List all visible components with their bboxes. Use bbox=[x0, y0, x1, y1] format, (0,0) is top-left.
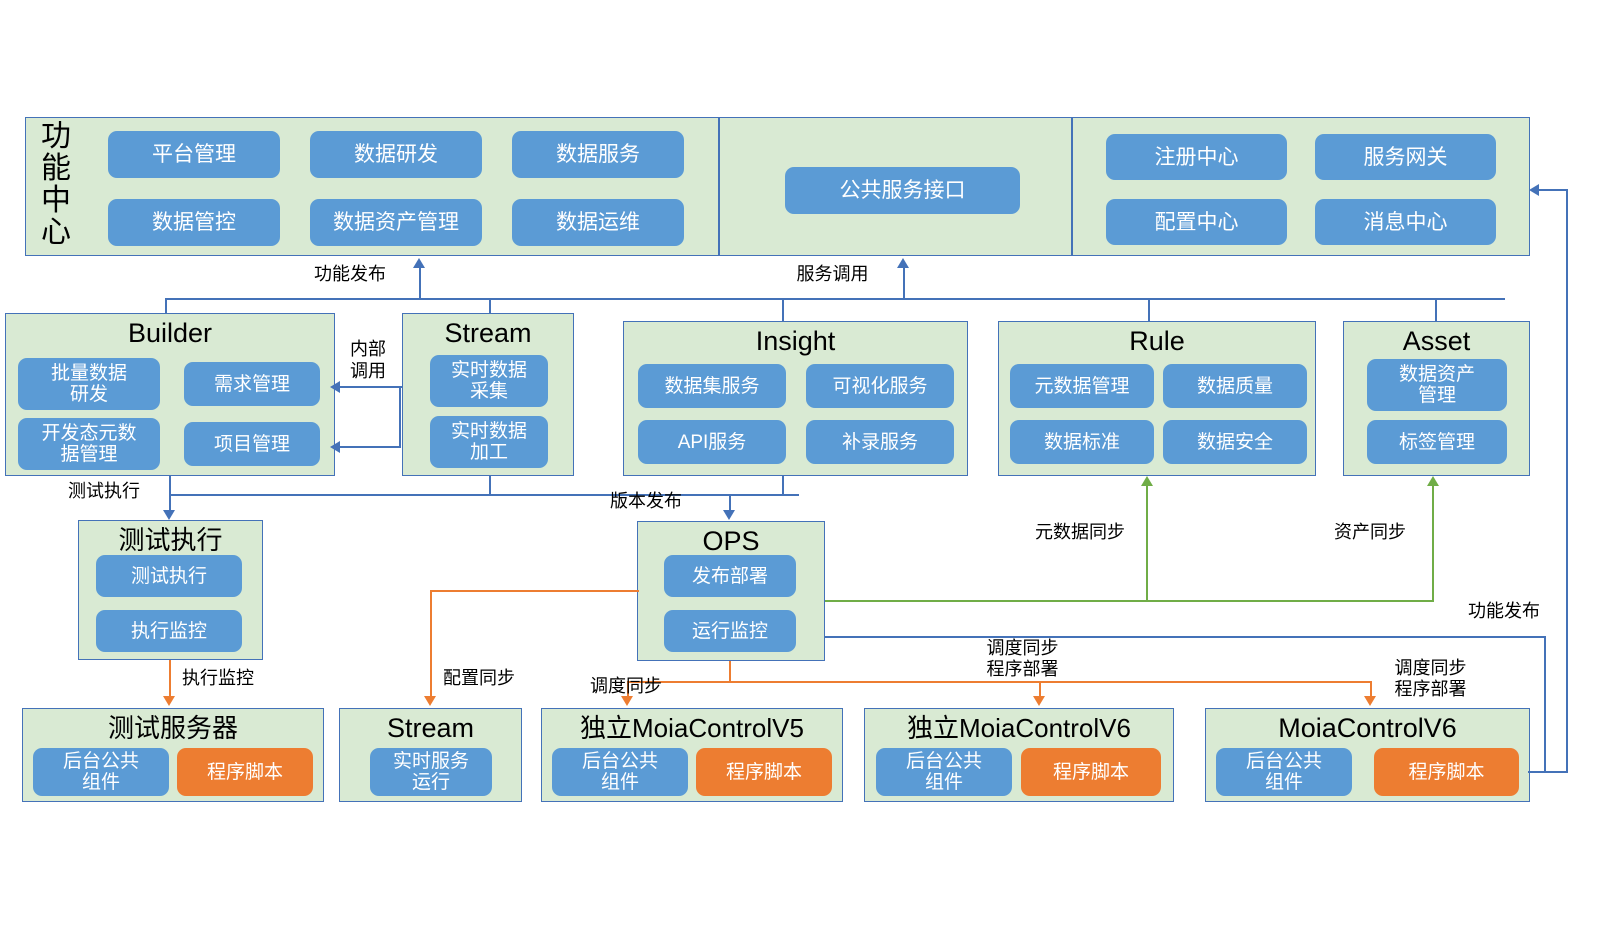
label-schedule-sync-deploy: 调度同步 程序部署 bbox=[955, 638, 1090, 680]
chip-message-center[interactable]: 消息中心 bbox=[1315, 199, 1496, 245]
function-center-divider-2 bbox=[1071, 117, 1073, 256]
module-insight-title: Insight bbox=[624, 326, 967, 356]
chip-registry-center[interactable]: 注册中心 bbox=[1106, 134, 1287, 180]
chip-program-script-1[interactable]: 程序脚本 bbox=[177, 748, 313, 796]
panel-test-execution-title: 测试执行 bbox=[79, 525, 262, 555]
chip-supplement-service[interactable]: 补录服务 bbox=[806, 420, 954, 464]
connector-asset-sync-h bbox=[825, 600, 1434, 602]
connector-config-sync-v bbox=[430, 590, 432, 698]
label-config-sync: 配置同步 bbox=[443, 668, 553, 689]
connector-ops-bottom-trunk bbox=[729, 661, 731, 683]
chip-project-management[interactable]: 项目管理 bbox=[184, 422, 320, 466]
connector-builder-down bbox=[169, 476, 171, 495]
connector-stream-to-bus bbox=[489, 476, 491, 495]
chip-tag-management[interactable]: 标签管理 bbox=[1367, 420, 1507, 464]
chip-realtime-data-processing[interactable]: 实时数据 加工 bbox=[430, 416, 548, 468]
arrow-execution-monitor bbox=[163, 696, 175, 706]
server-test-server-title: 测试服务器 bbox=[23, 713, 323, 743]
connector-right-return-bottom bbox=[1528, 771, 1568, 773]
server-moiacontrolv6-title: MoiaControlV6 bbox=[1206, 713, 1529, 743]
label-metadata-sync: 元数据同步 bbox=[1015, 522, 1145, 543]
chip-test-execution[interactable]: 测试执行 bbox=[96, 555, 242, 597]
connector-metadata-sync-v bbox=[1146, 485, 1148, 601]
label-execution-monitor: 执行监控 bbox=[182, 668, 292, 689]
label-test-execute: 测试执行 bbox=[68, 481, 168, 502]
label-asset-sync: 资产同步 bbox=[1305, 522, 1435, 543]
server-moiacontrolv5-standalone-title: 独立MoiaControlV5 bbox=[542, 713, 842, 743]
label-version-release: 版本发布 bbox=[610, 491, 720, 512]
chip-data-operations[interactable]: 数据运维 bbox=[512, 199, 684, 246]
connector-schedule-bus-right bbox=[1544, 636, 1546, 773]
architecture-diagram: 功能中心 平台管理 数据研发 数据服务 数据管控 数据资产管理 数据运维 公共服… bbox=[0, 0, 1611, 940]
arrow-schedule-sync-v6 bbox=[1033, 696, 1045, 706]
chip-api-service[interactable]: API服务 bbox=[638, 420, 786, 464]
connector-insight-to-bus bbox=[782, 476, 784, 495]
connector-internal-call-bottom bbox=[339, 446, 401, 448]
server-stream-title: Stream bbox=[340, 713, 521, 743]
chip-backend-common-component-1[interactable]: 后台公共 组件 bbox=[33, 748, 169, 796]
connector-bus-to-rule bbox=[1148, 298, 1150, 322]
connector-ops-bottom-bus bbox=[627, 681, 1372, 683]
connector-schedule-bus bbox=[825, 636, 1546, 638]
connector-bus-to-stream bbox=[489, 298, 491, 314]
arrow-test-execution bbox=[163, 510, 175, 520]
chip-backend-common-component-3[interactable]: 后台公共 组件 bbox=[876, 748, 1012, 796]
chip-realtime-service-runtime[interactable]: 实时服务 运行 bbox=[370, 748, 492, 796]
chip-public-service-interface[interactable]: 公共服务接口 bbox=[785, 167, 1020, 214]
chip-data-asset-mgmt[interactable]: 数据资产 管理 bbox=[1367, 359, 1507, 411]
chip-data-service[interactable]: 数据服务 bbox=[512, 131, 684, 178]
chip-data-standard[interactable]: 数据标准 bbox=[1010, 420, 1154, 464]
module-stream-title: Stream bbox=[403, 318, 573, 348]
connector-asset-sync-v bbox=[1432, 485, 1434, 601]
chip-runtime-monitor[interactable]: 运行监控 bbox=[664, 610, 796, 652]
chip-program-script-2[interactable]: 程序脚本 bbox=[696, 748, 832, 796]
arrow-asset-sync bbox=[1427, 476, 1439, 486]
label-function-publish-top: 功能发布 bbox=[280, 264, 420, 285]
connector-right-return-top bbox=[1538, 189, 1568, 191]
label-schedule-sync: 调度同步 bbox=[590, 676, 700, 697]
chip-dataset-service[interactable]: 数据集服务 bbox=[638, 364, 786, 408]
chip-data-security[interactable]: 数据安全 bbox=[1163, 420, 1307, 464]
chip-data-development[interactable]: 数据研发 bbox=[310, 131, 482, 178]
chip-platform-management[interactable]: 平台管理 bbox=[108, 131, 280, 178]
chip-backend-common-component-4[interactable]: 后台公共 组件 bbox=[1216, 748, 1352, 796]
chip-realtime-data-collection[interactable]: 实时数据 采集 bbox=[430, 355, 548, 407]
chip-dev-metadata-management[interactable]: 开发态元数 据管理 bbox=[18, 418, 160, 470]
chip-program-script-4[interactable]: 程序脚本 bbox=[1374, 748, 1519, 796]
label-schedule-sync-deploy-2: 调度同步 程序部署 bbox=[1363, 658, 1498, 700]
chip-data-asset-management[interactable]: 数据资产管理 bbox=[310, 199, 482, 246]
connector-bus-to-insight bbox=[782, 298, 784, 322]
arrow-internal-call-top bbox=[330, 381, 340, 393]
chip-batch-data-development[interactable]: 批量数据 研发 bbox=[18, 358, 160, 410]
label-function-publish-right: 功能发布 bbox=[1440, 601, 1540, 622]
connector-bus-to-asset bbox=[1435, 298, 1437, 322]
connector-internal-call-vert bbox=[399, 386, 401, 448]
label-service-call: 服务调用 bbox=[765, 264, 900, 285]
connector-internal-call-top bbox=[339, 386, 401, 388]
function-center-divider-1 bbox=[718, 117, 720, 256]
label-internal-call: 内部 调用 bbox=[338, 338, 398, 382]
connector-bus-to-builder bbox=[165, 298, 167, 314]
arrow-internal-call-bottom bbox=[330, 441, 340, 453]
chip-service-gateway[interactable]: 服务网关 bbox=[1315, 134, 1496, 180]
module-asset-title: Asset bbox=[1344, 326, 1529, 356]
chip-backend-common-component-2[interactable]: 后台公共 组件 bbox=[552, 748, 688, 796]
chip-metadata-management[interactable]: 元数据管理 bbox=[1010, 364, 1154, 408]
chip-release-deployment[interactable]: 发布部署 bbox=[664, 555, 796, 597]
chip-program-script-3[interactable]: 程序脚本 bbox=[1021, 748, 1161, 796]
connector-module-bus bbox=[165, 298, 1505, 300]
panel-ops-title: OPS bbox=[638, 526, 824, 556]
chip-config-center[interactable]: 配置中心 bbox=[1106, 199, 1287, 245]
arrow-schedule-sync-v5 bbox=[621, 696, 633, 706]
connector-service-call-up bbox=[903, 266, 905, 299]
chip-visualization-service[interactable]: 可视化服务 bbox=[806, 364, 954, 408]
chip-execution-monitor[interactable]: 执行监控 bbox=[96, 610, 242, 652]
function-center-side-label: 功能中心 bbox=[36, 121, 76, 249]
connector-stream-side bbox=[399, 386, 401, 388]
arrow-config-sync bbox=[424, 696, 436, 706]
arrow-version-release bbox=[723, 510, 735, 520]
arrow-right-return bbox=[1529, 184, 1539, 196]
connector-config-sync-h bbox=[430, 590, 639, 592]
connector-right-return-vert bbox=[1566, 189, 1568, 773]
chip-data-quality[interactable]: 数据质量 bbox=[1163, 364, 1307, 408]
module-builder-title: Builder bbox=[6, 318, 334, 348]
arrow-metadata-sync bbox=[1141, 476, 1153, 486]
chip-data-governance[interactable]: 数据管控 bbox=[108, 199, 280, 246]
module-rule-title: Rule bbox=[999, 326, 1315, 356]
chip-requirement-management[interactable]: 需求管理 bbox=[184, 362, 320, 406]
connector-execution-monitor bbox=[169, 660, 171, 698]
server-moiacontrolv6-standalone-title: 独立MoiaControlV6 bbox=[865, 713, 1173, 743]
